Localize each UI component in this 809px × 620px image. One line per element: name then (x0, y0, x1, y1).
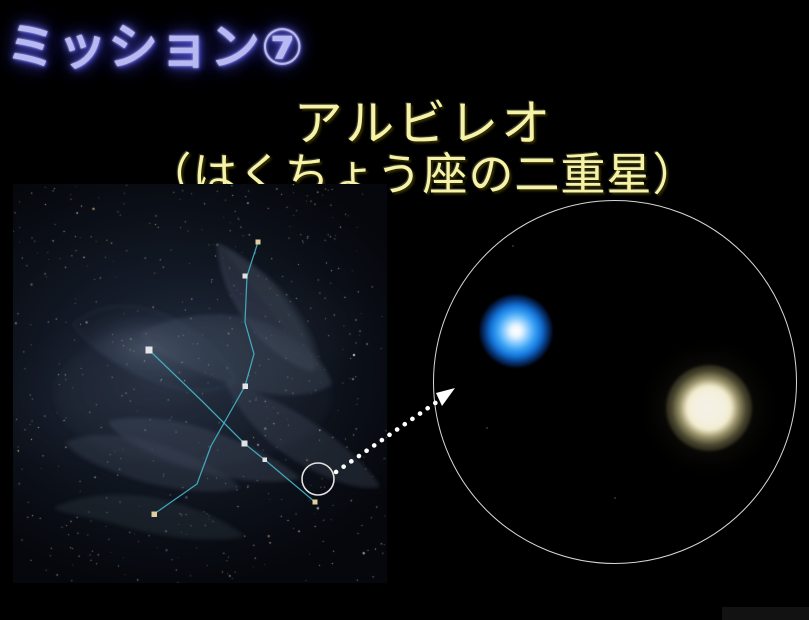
eyepiece-view (433, 200, 797, 564)
faint-speck (614, 497, 616, 499)
swan-figure-overlay (13, 184, 387, 583)
corner-panel (722, 607, 809, 620)
faint-speck (730, 233, 732, 235)
faint-speck (486, 427, 488, 429)
star-albireo-b (480, 295, 552, 367)
constellation-image (13, 184, 387, 583)
faint-speck (512, 245, 514, 247)
swan-haze (53, 322, 333, 466)
page-title: アルビレオ (294, 96, 554, 153)
mission-title: ミッション⑦ (6, 18, 304, 76)
star-albireo-a (666, 365, 752, 451)
slide-canvas: ミッション⑦ アルビレオ （はくちょう座の二重星） (0, 0, 809, 620)
